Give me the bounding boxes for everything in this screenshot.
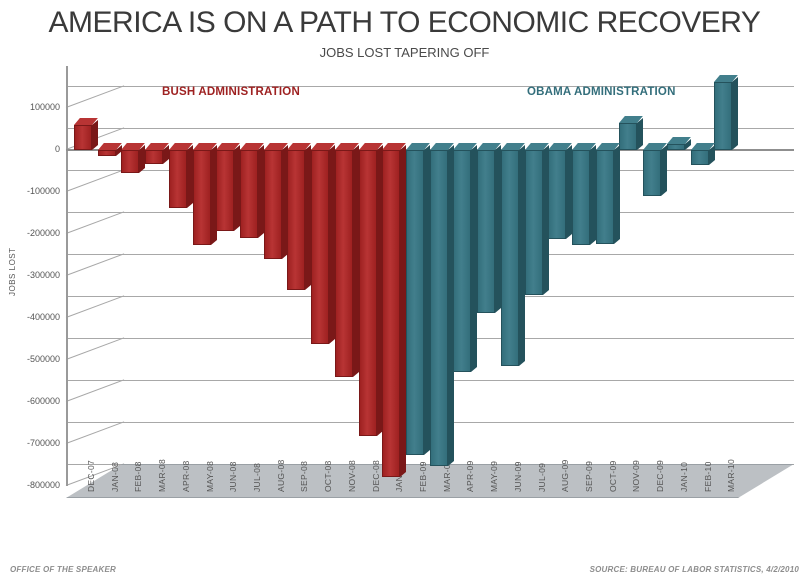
bar [382, 150, 400, 477]
x-axis-tick-label: FEB-10 [703, 461, 713, 492]
bar [596, 150, 614, 244]
bar-side-facet [471, 145, 477, 372]
bar-side-facet [590, 145, 596, 245]
bar-face [98, 150, 116, 156]
x-axis-tick-label: NOV-09 [631, 460, 641, 492]
bar-side-facet [377, 145, 383, 436]
bar [98, 150, 116, 156]
bar [501, 150, 519, 366]
bar [169, 150, 187, 208]
x-axis-tick-label: SEP-09 [584, 461, 594, 492]
x-axis-tick-label: JUN-09 [513, 461, 523, 492]
y-axis-tick-label: -200000 [0, 228, 60, 238]
y-axis-tick-label: -500000 [0, 354, 60, 364]
bar-side-facet [566, 145, 572, 239]
bar-side-facet [709, 145, 715, 165]
bar [406, 150, 424, 455]
y-axis-tick-label: -600000 [0, 396, 60, 406]
bar-face [477, 150, 495, 313]
y-axis-tick-label: 0 [0, 144, 60, 154]
bar [240, 150, 258, 238]
bar-side-facet [329, 145, 335, 344]
y-axis-tick-label: -400000 [0, 312, 60, 322]
x-axis-tick-label: MAY-08 [205, 461, 215, 492]
bar [477, 150, 495, 313]
bar [193, 150, 211, 245]
x-axis-tick-label: OCT-09 [608, 460, 618, 492]
bar-face [121, 150, 139, 173]
bar-face [216, 150, 234, 231]
x-axis-tick-label: APR-08 [181, 460, 191, 492]
bar-face [240, 150, 258, 238]
bar [335, 150, 353, 377]
bar [572, 150, 590, 245]
chart-plot-area [66, 66, 794, 486]
y-axis-tick-label: -100000 [0, 186, 60, 196]
bar [311, 150, 329, 344]
bar-face [74, 125, 92, 150]
x-axis-tick-label: DEC-07 [86, 460, 96, 492]
x-axis-tick-label: MAR-08 [157, 459, 167, 492]
bar-face [311, 150, 329, 344]
bar-face [169, 150, 187, 208]
bar [287, 150, 305, 290]
x-axis-tick-label: SEP-08 [299, 461, 309, 492]
x-axis-tick-label: JUL-09 [537, 463, 547, 492]
bar-face [667, 144, 685, 150]
bar [714, 82, 732, 150]
bar-side-facet [495, 145, 501, 313]
x-axis-tick-label: FEB-09 [418, 461, 428, 492]
bar [121, 150, 139, 173]
bar-side-facet [543, 145, 549, 295]
x-axis-tick-label: MAY-09 [489, 461, 499, 492]
y-axis-tick-label: -300000 [0, 270, 60, 280]
bar-face [453, 150, 471, 372]
footer-office-of-the-speaker: OFFICE OF THE SPEAKER [10, 565, 116, 574]
x-axis-tick-label: JUN-08 [228, 461, 238, 492]
footer-source: SOURCE: BUREAU OF LABOR STATISTICS, 4/2/… [590, 565, 799, 574]
bar-face [643, 150, 661, 196]
x-axis-ticks: DEC-07JAN-08FEB-08MAR-08APR-08MAY-08JUN-… [66, 492, 794, 552]
bar-side-facet [139, 145, 145, 173]
bar [216, 150, 234, 231]
x-axis-tick-label: JUL-08 [252, 463, 262, 492]
bar-face [382, 150, 400, 477]
bar-face [596, 150, 614, 244]
bar-face [406, 150, 424, 455]
bar [145, 150, 163, 164]
bar-side-facet [424, 145, 430, 455]
y-axis-tick-label: -700000 [0, 438, 60, 448]
bar-side-facet [448, 145, 454, 466]
bush-administration-label: BUSH ADMINISTRATION [162, 86, 300, 98]
y-axis-tick-label: -800000 [0, 480, 60, 490]
bar-side-facet [519, 145, 525, 366]
x-axis-tick-label: FEB-08 [133, 461, 143, 492]
bar [691, 150, 709, 165]
bar-face [714, 82, 732, 150]
bar [74, 125, 92, 150]
bar [453, 150, 471, 372]
x-axis-tick-label: JAN-08 [110, 462, 120, 492]
bar-face [525, 150, 543, 295]
bar-side-facet [305, 145, 311, 290]
bar-face [264, 150, 282, 259]
x-axis-tick-label: JAN-10 [679, 462, 689, 492]
bar [430, 150, 448, 466]
bar [643, 150, 661, 196]
bar-side-facet [234, 145, 240, 231]
x-axis-tick-label: DEC-09 [655, 460, 665, 492]
bar [264, 150, 282, 259]
bar-face [548, 150, 566, 239]
bar-side-facet [614, 145, 620, 244]
bar [619, 123, 637, 150]
bar [548, 150, 566, 239]
bar-face [691, 150, 709, 165]
chart-subtitle: JOBS LOST TAPERING OFF [0, 45, 809, 60]
bar-side-facet [187, 145, 193, 208]
x-axis-tick-label: APR-09 [465, 460, 475, 492]
bar [525, 150, 543, 295]
bar-face [335, 150, 353, 377]
x-axis-tick-label: OCT-08 [323, 460, 333, 492]
bar-side-facet [92, 120, 98, 150]
bar [359, 150, 377, 436]
bar-face [501, 150, 519, 366]
bar-side-facet [282, 145, 288, 259]
bar-face [193, 150, 211, 245]
bar-side-facet [400, 145, 406, 477]
obama-administration-label: OBAMA ADMINISTRATION [527, 86, 676, 98]
x-axis-tick-label: AUG-09 [560, 459, 570, 492]
bar-side-facet [258, 145, 264, 238]
bar-face [619, 123, 637, 150]
x-axis-tick-label: AUG-08 [276, 459, 286, 492]
bar-face [145, 150, 163, 164]
x-axis-tick-label: DEC-08 [371, 460, 381, 492]
page-title: AMERICA IS ON A PATH TO ECONOMIC RECOVER… [0, 6, 809, 40]
bar-face [359, 150, 377, 436]
bar-face [572, 150, 590, 245]
bar-side-facet [211, 145, 217, 245]
bar-face [287, 150, 305, 290]
bar [667, 144, 685, 150]
bar-side-facet [661, 145, 667, 196]
bar-series [66, 66, 794, 486]
bar-side-facet [732, 77, 738, 150]
y-axis-tick-label: 100000 [0, 102, 60, 112]
x-axis-tick-label: MAR-10 [726, 459, 736, 492]
x-axis-tick-label: NOV-08 [347, 460, 357, 492]
bar-side-facet [637, 118, 643, 150]
bar-face [430, 150, 448, 466]
bar-side-facet [353, 145, 359, 377]
